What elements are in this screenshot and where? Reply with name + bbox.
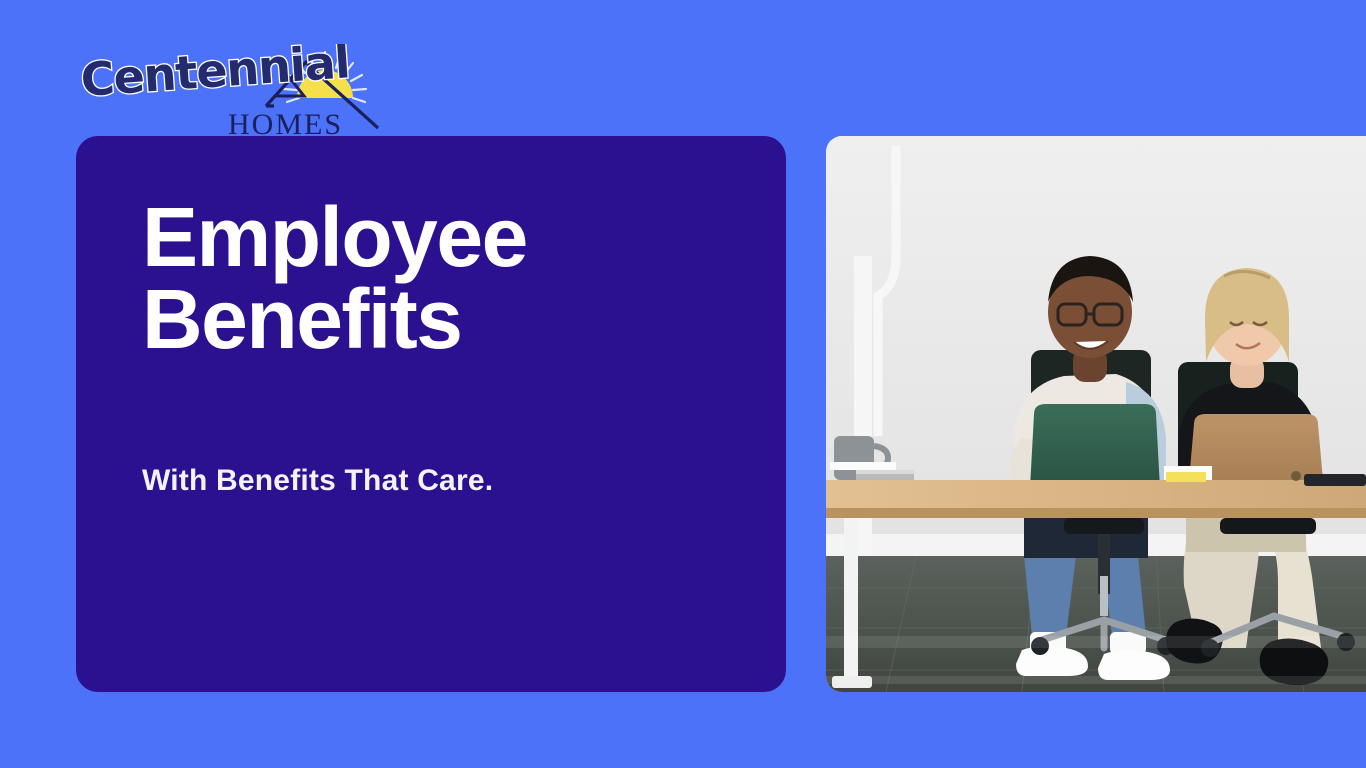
page-title-line-2: Benefits <box>142 278 742 360</box>
hero-photo <box>826 136 1366 692</box>
page-title-line-1: Employee <box>142 196 742 278</box>
page-subtitle: With Benefits That Care. <box>142 464 742 498</box>
page-title: Employee Benefits <box>142 196 742 361</box>
logo-subword: HOMES <box>228 108 343 136</box>
logo-artwork: Centennial HOMES <box>78 44 398 136</box>
centennial-homes-logo: Centennial HOMES <box>78 44 398 136</box>
hero-card: Employee Benefits With Benefits That Car… <box>76 136 786 692</box>
office-coworkers-illustration <box>826 136 1366 692</box>
